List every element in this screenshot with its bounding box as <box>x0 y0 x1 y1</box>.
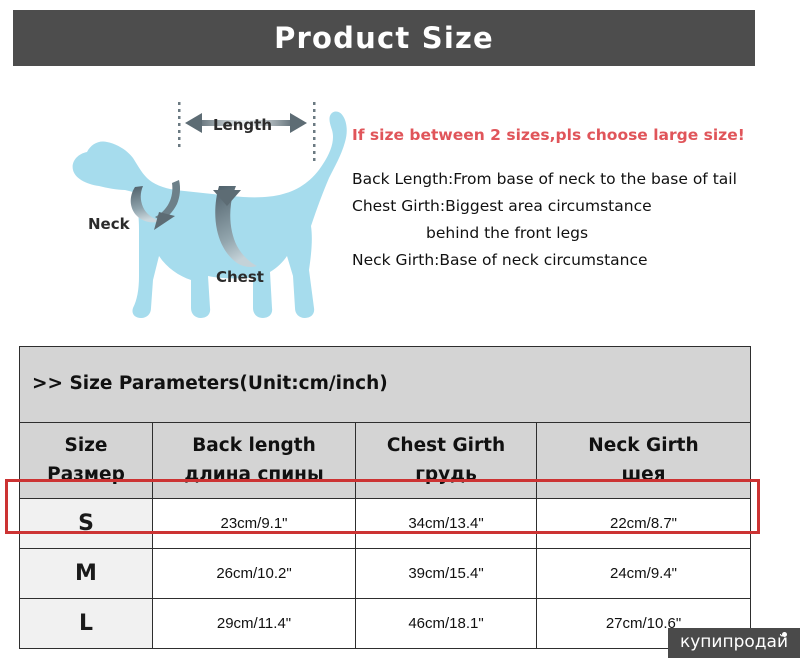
column-header-size-ru: Размер <box>20 461 152 490</box>
table-header-row: Size Размер Back length длина спины Ches… <box>20 423 751 499</box>
diagram-label-neck: Neck <box>88 215 130 233</box>
page-title: Product Size <box>274 21 494 55</box>
cell-chest-girth: 34cm/13.4" <box>356 499 537 549</box>
cell-back-length: 29cm/11.4" <box>153 599 356 649</box>
cell-size: S <box>20 499 153 549</box>
cell-size: M <box>20 549 153 599</box>
cell-chest-girth: 39cm/15.4" <box>356 549 537 599</box>
cell-back-length: 23cm/9.1" <box>153 499 356 549</box>
table-row: L 29cm/11.4" 46cm/18.1" 27cm/10.6" <box>20 599 751 649</box>
cell-neck-girth: 22cm/8.7" <box>537 499 751 549</box>
desc-line-back-length: Back Length:From base of neck to the bas… <box>352 170 792 188</box>
diagram-label-chest: Chest <box>216 268 264 286</box>
column-header-back-length: Back length длина спины <box>153 423 356 499</box>
size-parameters-table: >> Size Parameters(Unit:cm/inch) Size Ра… <box>19 346 751 649</box>
table-row: S 23cm/9.1" 34cm/13.4" 22cm/8.7" <box>20 499 751 549</box>
page-title-bar: Product Size <box>13 10 755 66</box>
column-header-neck-girth-ru: шея <box>537 461 750 490</box>
watermark-text: купипродай <box>680 632 788 652</box>
column-header-size-en: Size <box>65 435 108 456</box>
column-header-neck-girth-en: Neck Girth <box>588 435 698 456</box>
column-header-back-length-en: Back length <box>192 435 316 456</box>
column-header-chest-girth: Chest Girth грудь <box>356 423 537 499</box>
measurement-description: If size between 2 sizes,pls choose large… <box>352 126 792 278</box>
cell-neck-girth: 24cm/9.4" <box>537 549 751 599</box>
desc-line-neck-girth: Neck Girth:Base of neck circumstance <box>352 251 792 269</box>
table-banner-row: >> Size Parameters(Unit:cm/inch) <box>20 347 751 423</box>
cell-back-length: 26cm/10.2" <box>153 549 356 599</box>
diagram-label-length: Length <box>213 116 272 134</box>
size-parameters-banner: >> Size Parameters(Unit:cm/inch) <box>20 347 751 423</box>
column-header-size: Size Размер <box>20 423 153 499</box>
guide-line-front-icon <box>178 102 181 147</box>
desc-line-chest-girth: Chest Girth:Biggest area circumstance <box>352 197 792 215</box>
guide-line-tail-icon <box>313 102 316 161</box>
cell-chest-girth: 46cm/18.1" <box>356 599 537 649</box>
column-header-back-length-ru: длина спины <box>153 461 355 490</box>
column-header-chest-girth-en: Chest Girth <box>387 435 505 456</box>
desc-line-chest-girth-cont: behind the front legs <box>352 224 792 242</box>
table-row: M 26cm/10.2" 39cm/15.4" 24cm/9.4" <box>20 549 751 599</box>
cell-size: L <box>20 599 153 649</box>
column-header-neck-girth: Neck Girth шея <box>537 423 751 499</box>
site-watermark: купипродай <box>668 628 800 658</box>
watermark-dot-icon <box>782 632 787 637</box>
column-header-chest-girth-ru: грудь <box>356 461 536 490</box>
size-warning-text: If size between 2 sizes,pls choose large… <box>352 126 792 144</box>
